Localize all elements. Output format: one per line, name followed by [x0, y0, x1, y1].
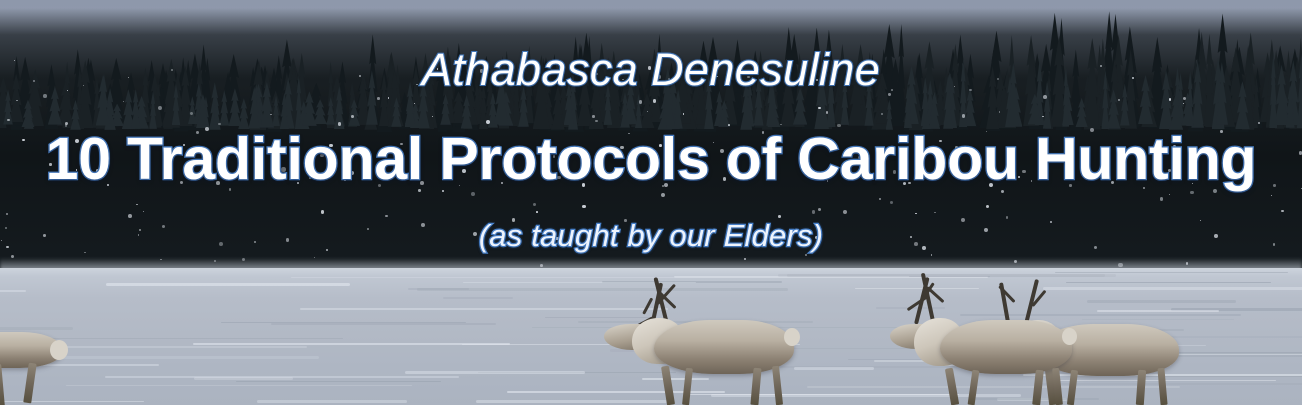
- title-slide: Athabasca Denesuline 10 Traditional Prot…: [0, 0, 1302, 405]
- slide-subtitle: (as taught by our Elders): [0, 218, 1302, 254]
- slide-heading: 10 Traditional Protocols of Caribou Hunt…: [0, 125, 1302, 193]
- slide-title: Athabasca Denesuline: [0, 44, 1302, 96]
- title-text-block: Athabasca Denesuline 10 Traditional Prot…: [0, 0, 1302, 405]
